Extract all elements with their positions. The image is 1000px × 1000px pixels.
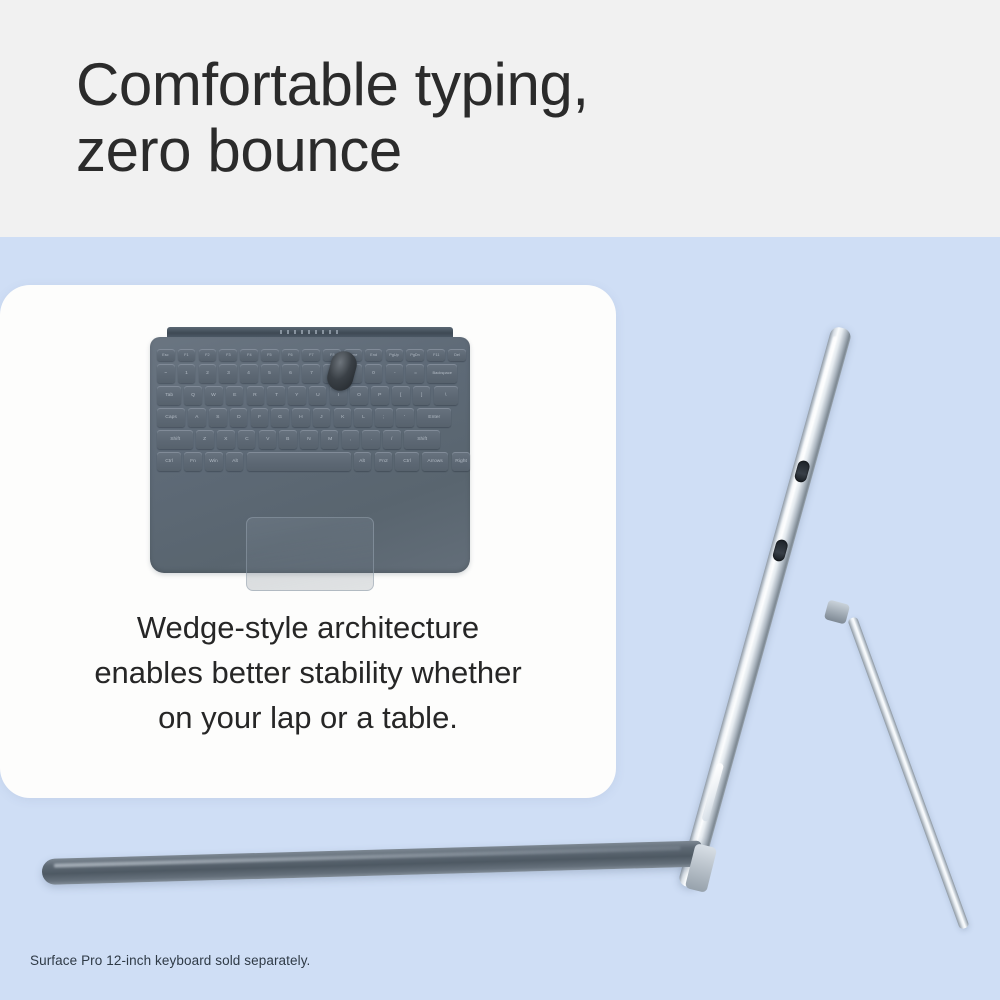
key-f: F [251, 408, 269, 427]
key-label: A [195, 415, 198, 420]
key-: = [406, 364, 424, 383]
key-caps: Caps [157, 408, 185, 427]
key-h: H [292, 408, 310, 427]
key-label: ; [383, 415, 384, 420]
key-end: End [365, 349, 383, 361]
key-label: H [299, 415, 303, 420]
keyboard-deck: EscF1F2F3F4F5F6F7F8HomeEndPgUpPgDnF11Del… [157, 349, 463, 509]
key-label: 6 [289, 371, 292, 376]
key-alt: Alt [226, 452, 244, 471]
key-label: Ctrl [165, 459, 173, 464]
feature-caption: Wedge-style architecture enables better … [22, 605, 594, 740]
key-label: Right [455, 459, 467, 464]
keyboard-edge-highlight [54, 846, 681, 868]
key-j: J [313, 408, 331, 427]
key-label: Arrows [428, 459, 443, 464]
key-label: Z [203, 437, 206, 442]
key-3: 3 [219, 364, 237, 383]
key-label: T [275, 393, 278, 398]
key-2: 2 [199, 364, 217, 383]
key-f1: F1 [178, 349, 196, 361]
key-label: X [224, 437, 227, 442]
trackpad [246, 517, 374, 591]
key-: - [386, 364, 404, 383]
key-alt: Alt [354, 452, 372, 471]
key-del: Del [448, 349, 466, 361]
key-label: Esc [163, 353, 169, 357]
key-label: ' [404, 415, 405, 420]
key-label: Shift [170, 437, 180, 442]
key-label: ] [421, 393, 422, 398]
key-ctrl: Ctrl [157, 452, 181, 471]
key-label: E [233, 393, 236, 398]
key-label: F6 [288, 353, 292, 357]
key-label: Backspace [432, 371, 451, 375]
key-: ; [375, 408, 393, 427]
key-5: 5 [261, 364, 279, 383]
key-label: 1 [185, 371, 188, 376]
key-k: K [334, 408, 352, 427]
key-row-top: TabQWERTYUIOP[]\ [157, 386, 458, 405]
key-label: F5 [267, 353, 271, 357]
key-label: Caps [165, 415, 177, 420]
key-label: Enter [428, 415, 440, 420]
key-win: Win [205, 452, 223, 471]
key-label: F2 [205, 353, 209, 357]
marketing-panel: Comfortable typing, zero bounce EscF1F2F… [0, 0, 1000, 1000]
kickstand-hinge [824, 599, 850, 624]
key-z: Z [196, 430, 214, 449]
key-label: N [307, 437, 311, 442]
key-label: - [394, 371, 396, 376]
key-label: Fn [190, 459, 196, 464]
key-label: Tab [165, 393, 173, 398]
key-f3: F3 [219, 349, 237, 361]
tablet-illustration [600, 250, 1000, 1000]
key-label: F3 [226, 353, 230, 357]
kickstand [847, 616, 969, 930]
key-pgdn: PgDn [406, 349, 424, 361]
key-p: P [371, 386, 389, 405]
key-shift: Shift [404, 430, 440, 449]
key-label: F1 [184, 353, 188, 357]
key-c: C [238, 430, 256, 449]
key-label: ~ [164, 371, 167, 376]
key-f4: F4 [240, 349, 258, 361]
key-y: Y [288, 386, 306, 405]
key-l: L [354, 408, 372, 427]
key-label: R [254, 393, 258, 398]
key-label: Q [191, 393, 195, 398]
key-label: G [278, 415, 282, 420]
key-u: U [309, 386, 327, 405]
key-f11: F11 [427, 349, 445, 361]
key-label: B [286, 437, 289, 442]
key-label: J [320, 415, 322, 420]
key-label: Win [210, 459, 218, 464]
key-7: 7 [302, 364, 320, 383]
key-label: \ [445, 393, 446, 398]
key-label: W [211, 393, 216, 398]
key-label: , [350, 437, 351, 442]
keyboard-body: EscF1F2F3F4F5F6F7F8HomeEndPgUpPgDnF11Del… [150, 337, 470, 573]
key-fn2: Fn2 [375, 452, 393, 471]
key-label: Alt [232, 459, 238, 464]
key-label: U [316, 393, 320, 398]
key-label: PgDn [410, 353, 420, 357]
key-f5: F5 [261, 349, 279, 361]
key-f6: F6 [282, 349, 300, 361]
header-band: Comfortable typing, zero bounce [0, 0, 1000, 237]
key-: . [362, 430, 380, 449]
key-label: Ctrl [403, 459, 411, 464]
key-esc: Esc [157, 349, 175, 361]
key-label: End [370, 353, 377, 357]
key-label: O [357, 393, 361, 398]
key-v: V [259, 430, 277, 449]
feature-card: EscF1F2F3F4F5F6F7F8HomeEndPgUpPgDnF11Del… [0, 285, 616, 798]
key-label: F11 [433, 353, 439, 357]
key-right: Right [452, 452, 470, 471]
key-label: 7 [310, 371, 313, 376]
key-row-number: ~1234567890-=Backspace [157, 364, 457, 383]
key-6: 6 [282, 364, 300, 383]
key-: ' [396, 408, 414, 427]
key-s: S [209, 408, 227, 427]
footnote-disclaimer: Surface Pro 12-inch keyboard sold separa… [30, 952, 310, 970]
key-q: Q [184, 386, 202, 405]
key-label: F7 [309, 353, 313, 357]
key-: ~ [157, 364, 175, 383]
key-tab: Tab [157, 386, 181, 405]
key-b: B [279, 430, 297, 449]
key-label: Y [295, 393, 298, 398]
key-e: E [226, 386, 244, 405]
key-label: F4 [247, 353, 251, 357]
product-stage: EscF1F2F3F4F5F6F7F8HomeEndPgUpPgDnF11Del… [0, 237, 1000, 1000]
key-1: 1 [178, 364, 196, 383]
key-: [ [392, 386, 410, 405]
key-label: . [371, 437, 372, 442]
key-label: 5 [268, 371, 271, 376]
keyboard-top-view-image: EscF1F2F3F4F5F6F7F8HomeEndPgUpPgDnF11Del… [145, 327, 475, 577]
key-label: D [237, 415, 241, 420]
key-t: T [267, 386, 285, 405]
key-n: N [300, 430, 318, 449]
key-backspace: Backspace [427, 364, 457, 383]
key-d: D [230, 408, 248, 427]
key-pgup: PgUp [386, 349, 404, 361]
key-label: F [258, 415, 261, 420]
key-label: K [341, 415, 344, 420]
key-label: C [245, 437, 249, 442]
key-fn: Fn [184, 452, 202, 471]
key-label: L [362, 415, 365, 420]
key-row-bottom: ShiftZXCVBNM,./Shift [157, 430, 440, 449]
key-label: V [266, 437, 269, 442]
key-0: 0 [365, 364, 383, 383]
key-ctrl: Ctrl [395, 452, 419, 471]
page-title: Comfortable typing, zero bounce [76, 52, 856, 184]
key-f7: F7 [302, 349, 320, 361]
key-g: G [271, 408, 289, 427]
key-label: Shift [417, 437, 427, 442]
key-label: PgUp [390, 353, 400, 357]
key-a: A [188, 408, 206, 427]
key-label: Del [454, 353, 460, 357]
key-f2: F2 [199, 349, 217, 361]
key-shift: Shift [157, 430, 193, 449]
key-x: X [217, 430, 235, 449]
usb-c-port-lower [772, 538, 789, 562]
key-enter: Enter [417, 408, 451, 427]
key-w: W [205, 386, 223, 405]
key-row-function: EscF1F2F3F4F5F6F7F8HomeEndPgUpPgDnF11Del [157, 349, 466, 361]
key-row-home: CapsASDFGHJKL;'Enter [157, 408, 451, 427]
key-: / [383, 430, 401, 449]
key-arrows: Arrows [422, 452, 448, 471]
key-4: 4 [240, 364, 258, 383]
key-label: Fn2 [379, 459, 388, 464]
key-o: O [350, 386, 368, 405]
key-label: P [378, 393, 381, 398]
key-row-control: CtrlFnWinAltAltFn2CtrlArrowsRight [157, 452, 470, 471]
key-: , [342, 430, 360, 449]
key-label: / [391, 437, 392, 442]
key-label: M [328, 437, 332, 442]
key-label: 0 [372, 371, 375, 376]
key-r: R [247, 386, 265, 405]
key-label: = [414, 371, 417, 376]
key-label: S [216, 415, 219, 420]
key-label: Alt [360, 459, 366, 464]
key-label: [ [400, 393, 401, 398]
key-m: M [321, 430, 339, 449]
key-: \ [434, 386, 458, 405]
keyboard-hinge-vents [280, 330, 340, 334]
key-space [247, 452, 351, 471]
key-: ] [413, 386, 431, 405]
key-label: I [338, 393, 339, 398]
key-label: 2 [206, 371, 209, 376]
key-label: 4 [248, 371, 251, 376]
key-label: 3 [227, 371, 230, 376]
usb-c-port-upper [793, 459, 810, 483]
